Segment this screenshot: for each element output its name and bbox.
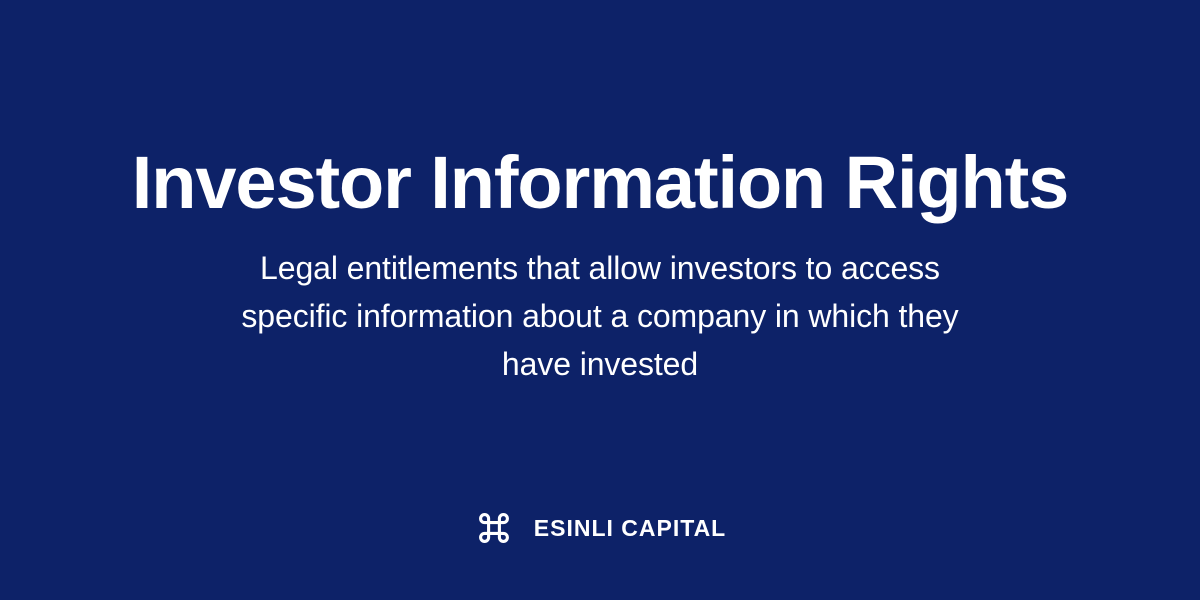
page-title: Investor Information Rights (0, 146, 1200, 220)
subtitle-block: Legal entitlements that allow investors … (150, 244, 1050, 388)
brand-wordmark: ESINLI CAPITAL (534, 517, 726, 540)
subtitle-line-1: Legal entitlements that allow investors … (150, 244, 1050, 292)
subtitle-line-3: have invested (150, 340, 1050, 388)
title-block: Investor Information Rights (0, 146, 1200, 220)
slide-canvas: Investor Information Rights Legal entitl… (0, 0, 1200, 600)
command-icon (474, 508, 514, 548)
brand-logo-lockup: ESINLI CAPITAL (0, 508, 1200, 548)
subtitle-line-2: specific information about a company in … (150, 292, 1050, 340)
